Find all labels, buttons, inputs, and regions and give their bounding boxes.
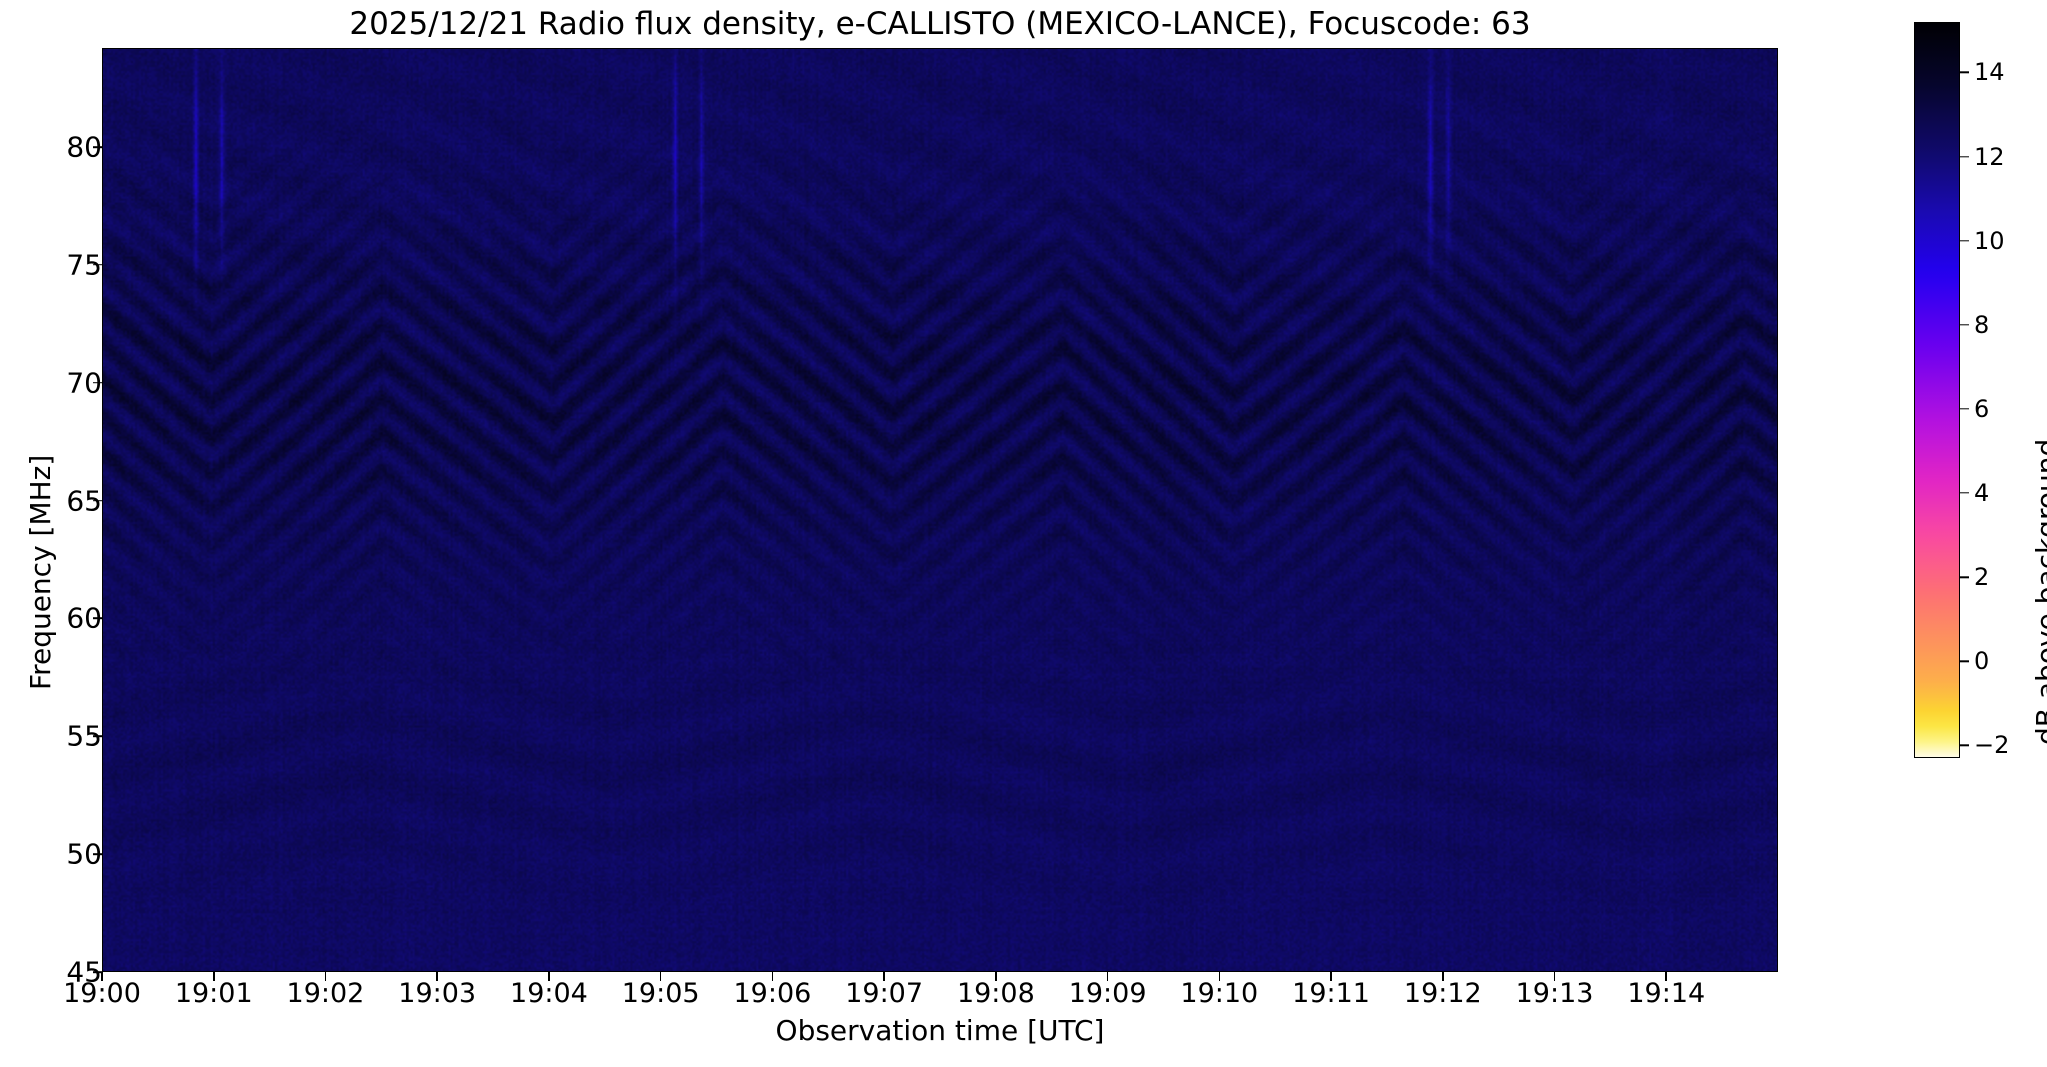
colorbar-tick-mark	[1960, 240, 1969, 241]
y-tick-label: 75	[6, 248, 102, 281]
colorbar-tick-label: 12	[1974, 143, 2005, 171]
colorbar-tick-mark	[1960, 156, 1969, 157]
y-tick-label: 55	[6, 720, 102, 753]
colorbar-tick-label: 14	[1974, 58, 2005, 86]
y-tick-label: 70	[6, 366, 102, 399]
colorbar-tick-mark	[1960, 745, 1969, 746]
x-axis-label: Observation time [UTC]	[102, 1014, 1778, 1047]
y-tick-label: 80	[6, 131, 102, 164]
colorbar-tick-labels: −202468101214	[1960, 22, 2040, 758]
y-tick-mark	[93, 618, 102, 620]
page-title: 2025/12/21 Radio flux density, e-CALLIST…	[102, 6, 1778, 42]
y-tick-mark	[93, 853, 102, 855]
colorbar-tick-label: −2	[1974, 731, 2009, 759]
colorbar-tick-label: 8	[1974, 311, 1989, 339]
colorbar-tick-label: 6	[1974, 395, 1989, 423]
y-tick-mark	[93, 735, 102, 737]
colorbar-tick-mark	[1960, 492, 1969, 493]
colorbar-tick-mark	[1960, 324, 1969, 325]
spectrogram-plot-area[interactable]	[102, 48, 1778, 972]
colorbar-tick-mark	[1960, 72, 1969, 73]
x-tick-label: 19:14	[1586, 978, 1746, 1009]
colorbar-axis-label: dB above background	[2030, 439, 2047, 745]
y-tick-label: 50	[6, 838, 102, 871]
spectrogram-figure: 2025/12/21 Radio flux density, e-CALLIST…	[0, 0, 2047, 1067]
colorbar-tick-label: 4	[1974, 479, 1989, 507]
colorbar-tick-label: 2	[1974, 563, 1989, 591]
colorbar-tick-label: 0	[1974, 647, 1989, 675]
colorbar-tick-mark	[1960, 576, 1969, 577]
colorbar-tick-mark	[1960, 661, 1969, 662]
y-tick-mark	[93, 500, 102, 502]
y-tick-label: 60	[6, 602, 102, 635]
colorbar-tick-label: 10	[1974, 227, 2005, 255]
y-tick-label: 65	[6, 484, 102, 517]
colorbar-gradient	[1914, 22, 1960, 758]
y-tick-mark	[93, 382, 102, 384]
y-tick-mark	[93, 264, 102, 266]
y-tick-mark	[93, 146, 102, 148]
colorbar[interactable]	[1914, 22, 1960, 758]
y-tick-labels: 4550556065707580	[0, 0, 102, 1067]
spectrogram-image	[103, 49, 1777, 971]
colorbar-tick-mark	[1960, 408, 1969, 409]
x-tick-labels: 19:0019:0119:0219:0319:0419:0519:0619:07…	[0, 978, 2047, 1018]
